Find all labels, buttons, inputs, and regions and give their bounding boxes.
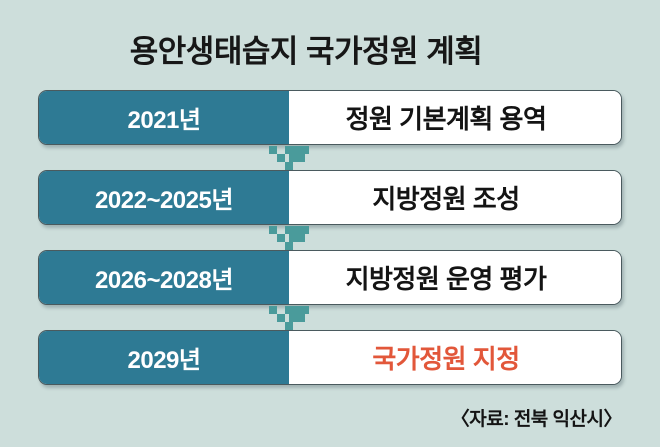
connector-square	[297, 154, 305, 162]
connector-square	[277, 234, 285, 242]
checkerboard-down-arrow-icon	[265, 306, 313, 330]
checkerboard-down-arrow-icon	[265, 226, 313, 250]
timeline-row: 2026~2028년 지방정원 운영 평가	[38, 250, 622, 305]
timeline-row-description: 지방정원 조성	[289, 171, 621, 224]
timeline-row-description: 지방정원 운영 평가	[289, 251, 621, 304]
connector-square	[293, 306, 301, 314]
connector-square	[297, 314, 305, 322]
checkerboard-down-arrow-icon	[265, 146, 313, 170]
timeline-row-year: 2022~2025년	[39, 171, 289, 224]
timeline-row-year: 2021년	[39, 91, 289, 144]
connector-square	[301, 306, 309, 314]
connector-square	[289, 154, 297, 162]
connector-square	[293, 226, 301, 234]
connector-square	[301, 226, 309, 234]
connector-square	[289, 314, 297, 322]
connector-square	[285, 242, 293, 250]
connector-square	[277, 154, 285, 162]
connector-square	[301, 146, 309, 154]
timeline-row-year: 2026~2028년	[39, 251, 289, 304]
timeline-row-year: 2029년	[39, 331, 289, 384]
connector-square	[269, 306, 277, 314]
timeline-row: 2021년 정원 기본계획 용역	[38, 90, 622, 145]
connector-square	[285, 146, 293, 154]
connector-square	[269, 146, 277, 154]
page-title: 용안생태습지 국가정원 계획	[0, 26, 612, 71]
connector-square	[293, 146, 301, 154]
connector-square	[297, 234, 305, 242]
timeline-row-description: 정원 기본계획 용역	[289, 91, 621, 144]
connector-square	[285, 226, 293, 234]
source-attribution: 〈자료: 전북 익산시〉	[451, 404, 622, 431]
connector-square	[289, 234, 297, 242]
infographic-canvas: 용안생태습지 국가정원 계획 2021년 정원 기본계획 용역 2022~202…	[0, 0, 660, 447]
timeline-row: 2022~2025년 지방정원 조성	[38, 170, 622, 225]
timeline-row: 2029년 국가정원 지정	[38, 330, 622, 385]
connector-square	[285, 322, 293, 330]
connector-square	[277, 314, 285, 322]
connector-square	[285, 306, 293, 314]
connector-square	[285, 162, 293, 170]
connector-square	[269, 226, 277, 234]
timeline-row-description: 국가정원 지정	[289, 331, 621, 384]
